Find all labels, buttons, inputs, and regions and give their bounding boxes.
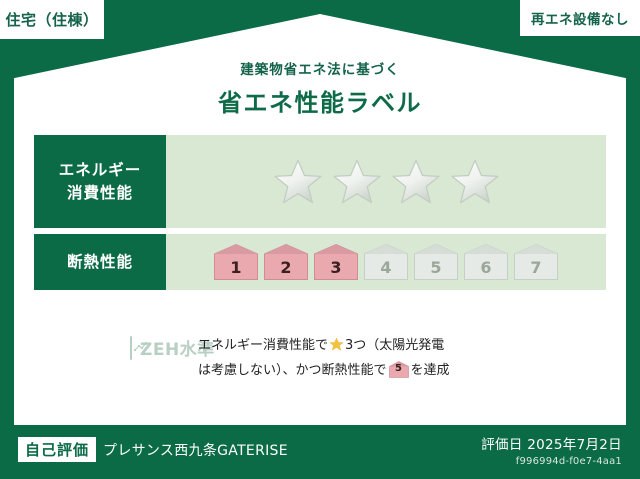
document-id: f996994d-f0e7-4aa1 xyxy=(481,456,622,467)
star-rating xyxy=(272,157,501,207)
insulation-chip-2: 2 xyxy=(263,243,309,281)
title-subtitle: 建築物省エネ法に基づく xyxy=(0,58,640,78)
zeh-desc-part1: エネルギー消費性能で xyxy=(198,338,328,353)
insulation-chip-3: 3 xyxy=(313,243,359,281)
evaluation-date-label: 評価日 xyxy=(481,437,522,453)
inline-gold-star-icon xyxy=(329,337,344,360)
insulation-chip-7: 7 xyxy=(513,243,559,281)
insulation-chip-number: 4 xyxy=(363,243,409,281)
row-energy-key-line1: エネルギー xyxy=(59,159,142,181)
row-energy-value xyxy=(166,135,606,228)
insulation-chip-number: 7 xyxy=(513,243,559,281)
insulation-chip-1: 1 xyxy=(213,243,259,281)
performance-rows: エネルギー 消費性能 断熱性能 1234567 xyxy=(34,135,606,290)
insulation-chip-number: 5 xyxy=(413,243,459,281)
zeh-desc-part3: は考慮しない）、かつ断熱性能で xyxy=(198,363,387,378)
zeh-desc-part2: 3つ（太陽光発電 xyxy=(345,338,444,353)
evaluation-date: 評価日 2025年7月2日 xyxy=(481,433,622,453)
insulation-chip-number: 1 xyxy=(213,243,259,281)
insulation-chip-number: 6 xyxy=(463,243,509,281)
zeh-desc-part4: を達成 xyxy=(411,363,450,378)
row-insulation-key: 断熱性能 xyxy=(34,234,166,290)
insulation-chip-number: 2 xyxy=(263,243,309,281)
self-evaluation-badge: 自己評価 xyxy=(18,437,96,462)
footer-bar: 自己評価 プレサンス西九条GATERISE 評価日 2025年7月2日 f996… xyxy=(0,425,640,479)
building-name: プレサンス西九条GATERISE xyxy=(103,440,288,460)
star-empty-icon xyxy=(390,157,442,207)
star-empty-icon xyxy=(449,157,501,207)
row-insulation-value: 1234567 xyxy=(166,234,606,290)
row-energy-consumption: エネルギー 消費性能 xyxy=(34,135,606,228)
inline-insulation-chip: 5 xyxy=(389,361,409,378)
star-empty-icon xyxy=(272,157,324,207)
insulation-chip-6: 6 xyxy=(463,243,509,281)
label-title: 建築物省エネ法に基づく 省エネ性能ラベル xyxy=(0,58,640,118)
insulation-chip-5: 5 xyxy=(413,243,459,281)
zeh-chart-icon xyxy=(130,336,132,360)
footer-left: 自己評価 プレサンス西九条GATERISE xyxy=(18,437,288,462)
zeh-mark: ZEH水準 xyxy=(34,335,194,360)
row-energy-key-line2: 消費性能 xyxy=(67,182,133,204)
star-empty-icon xyxy=(331,157,383,207)
zeh-description: エネルギー消費性能で3つ（太陽光発電 は考慮しない）、かつ断熱性能で5を達成 xyxy=(198,335,450,382)
insulation-chip-number: 3 xyxy=(313,243,359,281)
insulation-chip-4: 4 xyxy=(363,243,409,281)
zeh-standard-row: ZEH水準 エネルギー消費性能で3つ（太陽光発電 は考慮しない）、かつ断熱性能で… xyxy=(34,335,606,382)
footer-right: 評価日 2025年7月2日 f996994d-f0e7-4aa1 xyxy=(481,433,622,467)
evaluation-date-value: 2025年7月2日 xyxy=(527,437,622,453)
inline-chip-number: 5 xyxy=(389,361,409,378)
badge-renewable-energy: 再エネ設備なし xyxy=(520,0,640,36)
row-insulation: 断熱性能 1234567 xyxy=(34,234,606,290)
energy-label-card: 住宅（住棟） 再エネ設備なし 建築物省エネ法に基づく 省エネ性能ラベル エネルギ… xyxy=(0,0,640,479)
title-main: 省エネ性能ラベル xyxy=(0,83,640,118)
badge-building-type: 住宅（住棟） xyxy=(0,0,104,39)
row-energy-key: エネルギー 消費性能 xyxy=(34,135,166,228)
insulation-level-chips: 1234567 xyxy=(213,243,559,281)
